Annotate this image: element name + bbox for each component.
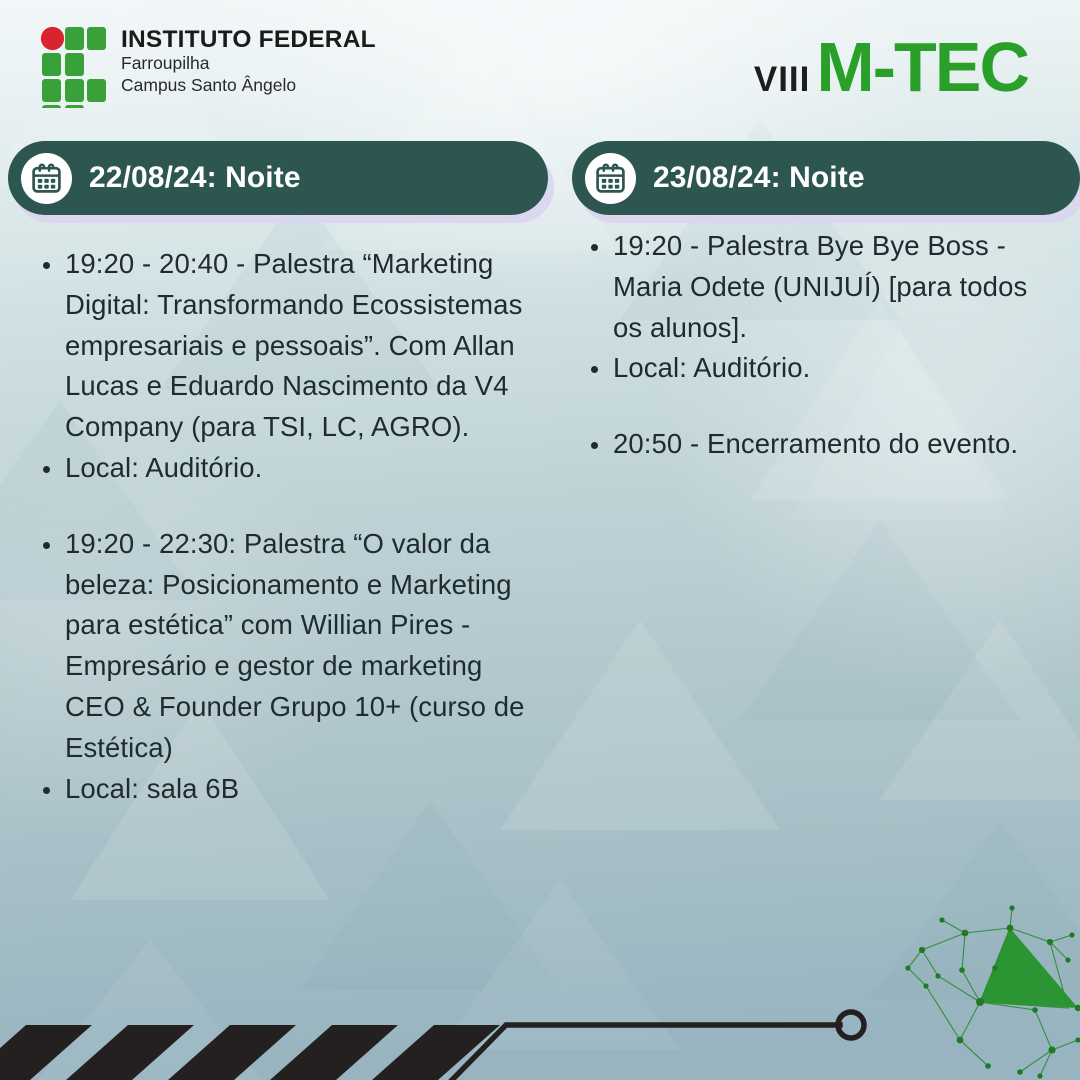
instituto-federal-wordmark: INSTITUTO FEDERAL Farroupilha Campus San… [121, 27, 376, 97]
schedule-item-location: Local: sala 6B [36, 769, 526, 810]
institution-title: INSTITUTO FEDERAL [121, 27, 376, 53]
instituto-federal-grid-logo-icon [40, 26, 108, 108]
mtec-event-logo: VIII M-TEC [754, 32, 1028, 102]
calendar-icon-badge [21, 153, 72, 204]
day-label: 22/08/24: Noite [89, 161, 301, 195]
schedule-item: 20:50 - Encerramento do evento. [584, 424, 1054, 465]
schedule-group: 19:20 - 22:30: Palestra “O valor da bele… [36, 524, 526, 810]
schedule-item-location: Local: Auditório. [584, 348, 1054, 389]
instituto-federal-logo: INSTITUTO FEDERAL Farroupilha Campus San… [40, 26, 376, 108]
day-header-22-08: 22/08/24: Noite [8, 141, 548, 221]
calendar-icon [30, 162, 63, 195]
poster-canvas: INSTITUTO FEDERAL Farroupilha Campus San… [0, 0, 1080, 1080]
schedule-column-day-2: 19:20 - Palestra Bye Bye Boss - Maria Od… [584, 226, 1054, 465]
line-with-circle-endpoint-icon [452, 1025, 840, 1080]
poster-header: INSTITUTO FEDERAL Farroupilha Campus San… [0, 0, 1080, 132]
day-label: 23/08/24: Noite [653, 161, 865, 195]
day-header-pill: 23/08/24: Noite [572, 141, 1080, 215]
day-header-23-08: 23/08/24: Noite [572, 141, 1080, 221]
schedule-item: 19:20 - 20:40 - Palestra “Marketing Digi… [36, 244, 526, 448]
green-network-nodes-graphic-icon [900, 890, 1080, 1080]
schedule-item: 19:20 - 22:30: Palestra “O valor da bele… [36, 524, 526, 769]
schedule-item-location: Local: Auditório. [36, 448, 526, 489]
schedule-group: 19:20 - Palestra Bye Bye Boss - Maria Od… [584, 226, 1054, 389]
line-endpoint-circle-icon [838, 1012, 864, 1038]
diagonal-stripes-icon [0, 1025, 500, 1080]
institution-campus-line-2: Campus Santo Ângelo [121, 75, 376, 97]
day-header-pill: 22/08/24: Noite [8, 141, 548, 215]
schedule-group: 20:50 - Encerramento do evento. [584, 424, 1054, 465]
schedule-item: 19:20 - Palestra Bye Bye Boss - Maria Od… [584, 226, 1054, 348]
schedule-group: 19:20 - 20:40 - Palestra “Marketing Digi… [36, 244, 526, 489]
calendar-icon [594, 162, 627, 195]
event-name: M-TEC [816, 32, 1028, 102]
event-edition-number: VIII [754, 62, 811, 97]
calendar-icon-badge [585, 153, 636, 204]
institution-campus-line-1: Farroupilha [121, 53, 376, 75]
bottom-decoration [0, 992, 1080, 1080]
schedule-column-day-1: 19:20 - 20:40 - Palestra “Marketing Digi… [36, 244, 526, 809]
